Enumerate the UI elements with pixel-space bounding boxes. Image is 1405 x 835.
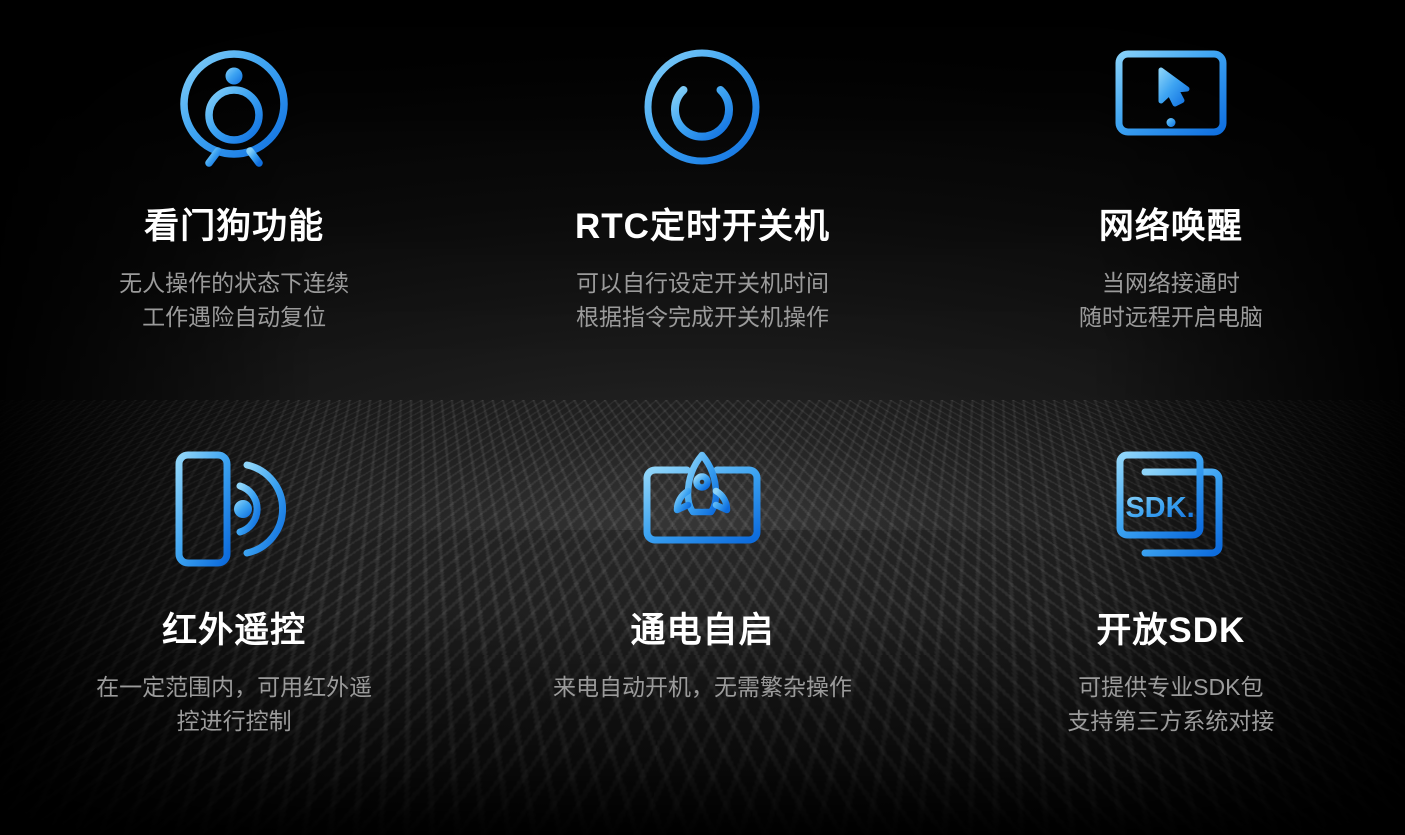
feature-grid: 看门狗功能 无人操作的状态下连续 工作遇险自动复位 RTC定时开关机 可以自行设 <box>0 0 1405 835</box>
feature-item-auto-power-on[interactable]: 通电自启 来电自动开机，无需繁杂操作 <box>468 379 936 835</box>
feature-description-line: 工作遇险自动复位 <box>119 300 349 334</box>
monitor-cursor-icon <box>1113 47 1229 167</box>
monitor-rocket-icon <box>640 446 764 571</box>
feature-description-line: 根据指令完成开关机操作 <box>576 300 829 334</box>
feature-description-line: 可以自行设定开关机时间 <box>576 266 829 300</box>
feature-description-line: 控进行控制 <box>96 704 372 738</box>
feature-item-infrared-remote[interactable]: 红外遥控 在一定范围内，可用红外遥 控进行控制 <box>0 379 468 835</box>
feature-description: 可提供专业SDK包 支持第三方系统对接 <box>1067 670 1274 738</box>
feature-description-line: 无人操作的状态下连续 <box>119 266 349 300</box>
feature-title: RTC定时开关机 <box>575 209 830 244</box>
feature-description: 可以自行设定开关机时间 根据指令完成开关机操作 <box>576 266 829 334</box>
feature-description-line: 随时远程开启电脑 <box>1079 300 1263 334</box>
feature-item-rtc-timer[interactable]: RTC定时开关机 可以自行设定开关机时间 根据指令完成开关机操作 <box>468 0 936 379</box>
feature-description-line: 支持第三方系统对接 <box>1067 704 1274 738</box>
feature-title: 通电自启 <box>630 613 774 648</box>
feature-description: 来电自动开机，无需繁杂操作 <box>553 670 852 704</box>
feature-description: 在一定范围内，可用红外遥 控进行控制 <box>96 670 372 738</box>
power-icon <box>643 47 761 167</box>
feature-description-line: 可提供专业SDK包 <box>1067 670 1274 704</box>
feature-title: 看门狗功能 <box>144 209 324 244</box>
feature-title: 开放SDK <box>1096 613 1245 648</box>
sdk-icon-label: SDK. <box>1125 492 1194 524</box>
feature-title: 红外遥控 <box>162 613 306 648</box>
feature-item-open-sdk[interactable]: SDK. 开放SDK 可提供专业SDK包 支持第三方系统对接 <box>937 379 1405 835</box>
feature-description-line: 来电自动开机，无需繁杂操作 <box>553 670 852 704</box>
feature-title: 网络唤醒 <box>1099 209 1243 244</box>
feature-description: 当网络接通时 随时远程开启电脑 <box>1079 266 1263 334</box>
feature-description-line: 在一定范围内，可用红外遥 <box>96 670 372 704</box>
feature-showcase-page: 看门狗功能 无人操作的状态下连续 工作遇险自动复位 RTC定时开关机 可以自行设 <box>0 0 1405 835</box>
webcam-icon <box>176 47 292 167</box>
sdk-windows-icon: SDK. <box>1115 446 1227 571</box>
infrared-remote-icon <box>174 446 294 571</box>
feature-description: 无人操作的状态下连续 工作遇险自动复位 <box>119 266 349 334</box>
feature-description-line: 当网络接通时 <box>1079 266 1263 300</box>
feature-item-watchdog[interactable]: 看门狗功能 无人操作的状态下连续 工作遇险自动复位 <box>0 0 468 379</box>
feature-item-wake-on-lan[interactable]: 网络唤醒 当网络接通时 随时远程开启电脑 <box>937 0 1405 379</box>
